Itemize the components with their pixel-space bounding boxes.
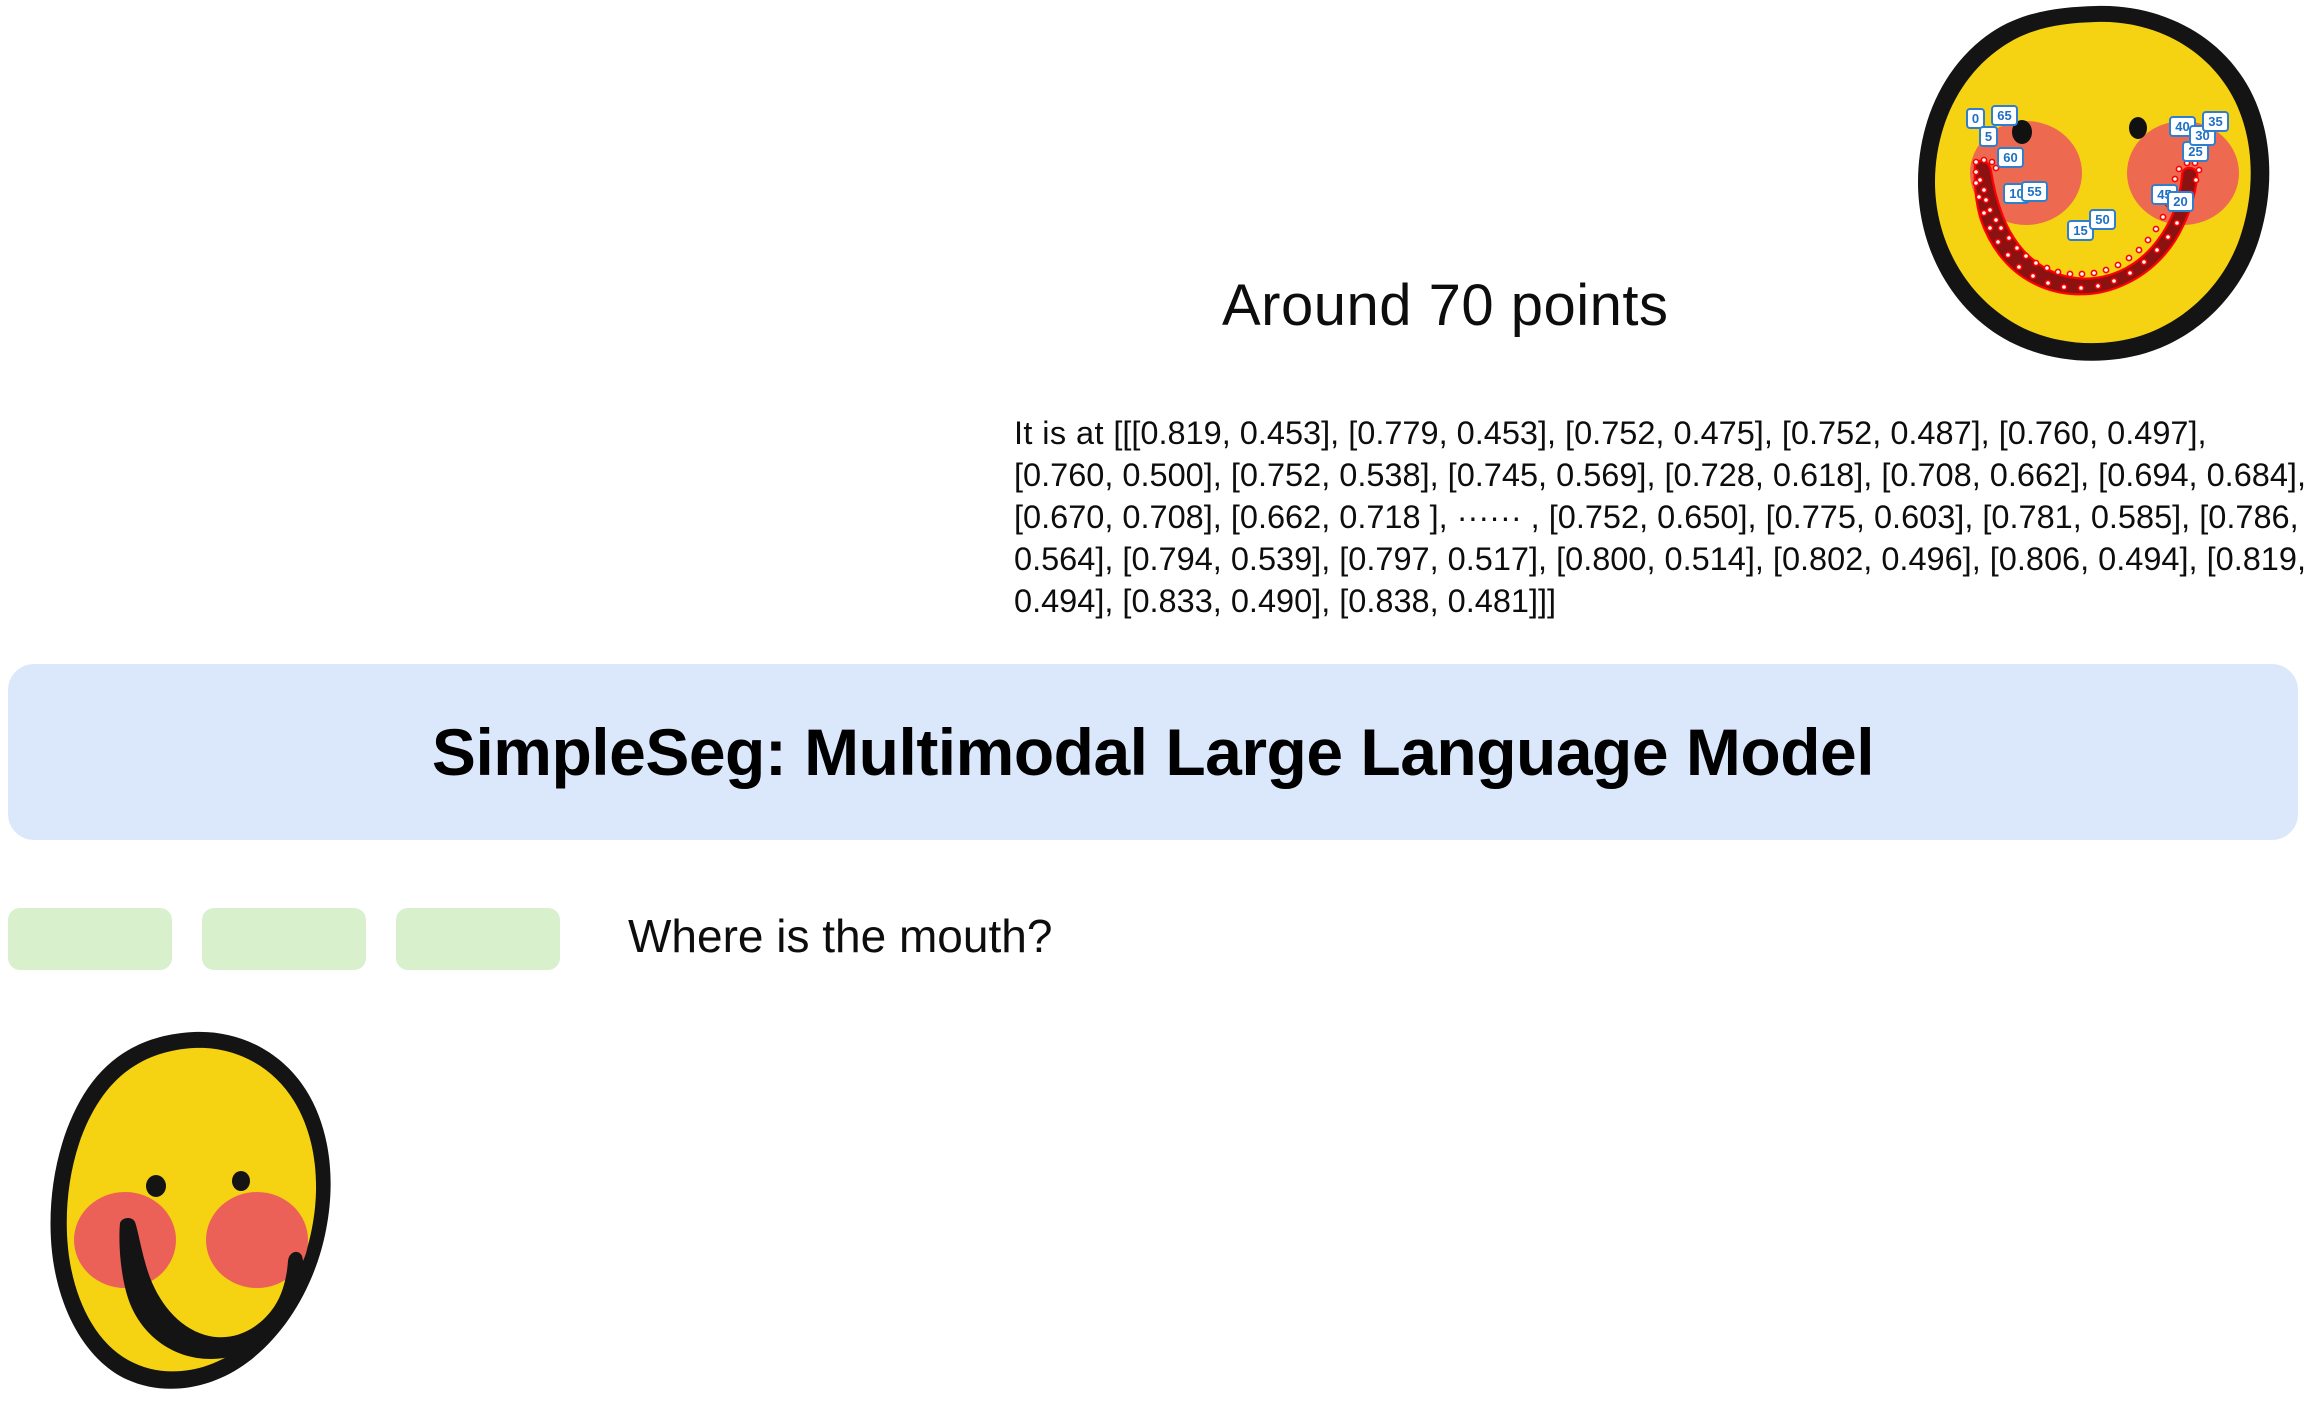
- plain-smiley-face: [42, 1018, 336, 1418]
- svg-text:50: 50: [2095, 212, 2109, 227]
- token-chip[interactable]: [8, 908, 172, 970]
- answer-coordinates-block: It is at [[[0.819, 0.453], [0.779, 0.453…: [1014, 412, 2304, 622]
- svg-text:15: 15: [2073, 223, 2087, 238]
- model-banner: SimpleSeg: Multimodal Large Language Mod…: [8, 664, 2298, 840]
- index-label-50: 50: [2090, 210, 2115, 229]
- svg-text:20: 20: [2173, 194, 2187, 209]
- token-chip[interactable]: [202, 908, 366, 970]
- left-eye: [146, 1175, 166, 1197]
- right-eye: [232, 1171, 250, 1191]
- svg-text:60: 60: [2003, 150, 2017, 165]
- model-banner-title: SimpleSeg: Multimodal Large Language Mod…: [432, 714, 1874, 790]
- svg-text:65: 65: [1997, 108, 2011, 123]
- index-label-0: 0: [1967, 109, 1984, 128]
- points-count-label: Around 70 points: [1222, 272, 1669, 339]
- index-label-60: 60: [1998, 148, 2023, 167]
- answer-coordinates-text: [[[0.819, 0.453], [0.779, 0.453], [0.752…: [1014, 415, 2304, 619]
- svg-text:5: 5: [1985, 129, 1992, 144]
- answer-lead-text: It is at: [1014, 415, 1113, 451]
- index-label-65: 65: [1992, 106, 2017, 125]
- svg-text:40: 40: [2175, 119, 2189, 134]
- index-label-20: 20: [2168, 192, 2193, 211]
- index-label-5: 5: [1980, 127, 1997, 146]
- index-label-35: 35: [2203, 112, 2228, 131]
- right-eye: [2129, 117, 2147, 139]
- user-question-text: Where is the mouth?: [628, 909, 1052, 963]
- svg-text:25: 25: [2188, 144, 2202, 159]
- svg-text:0: 0: [1972, 111, 1979, 126]
- token-chip[interactable]: [396, 908, 560, 970]
- input-token-chips: [8, 908, 560, 970]
- svg-text:35: 35: [2208, 114, 2222, 129]
- annotated-smiley-face: 0 65 5 60 10 55 15 50 45 20 25 40 30 35: [1900, 2, 2290, 364]
- index-label-55: 55: [2022, 182, 2047, 201]
- svg-text:55: 55: [2027, 184, 2041, 199]
